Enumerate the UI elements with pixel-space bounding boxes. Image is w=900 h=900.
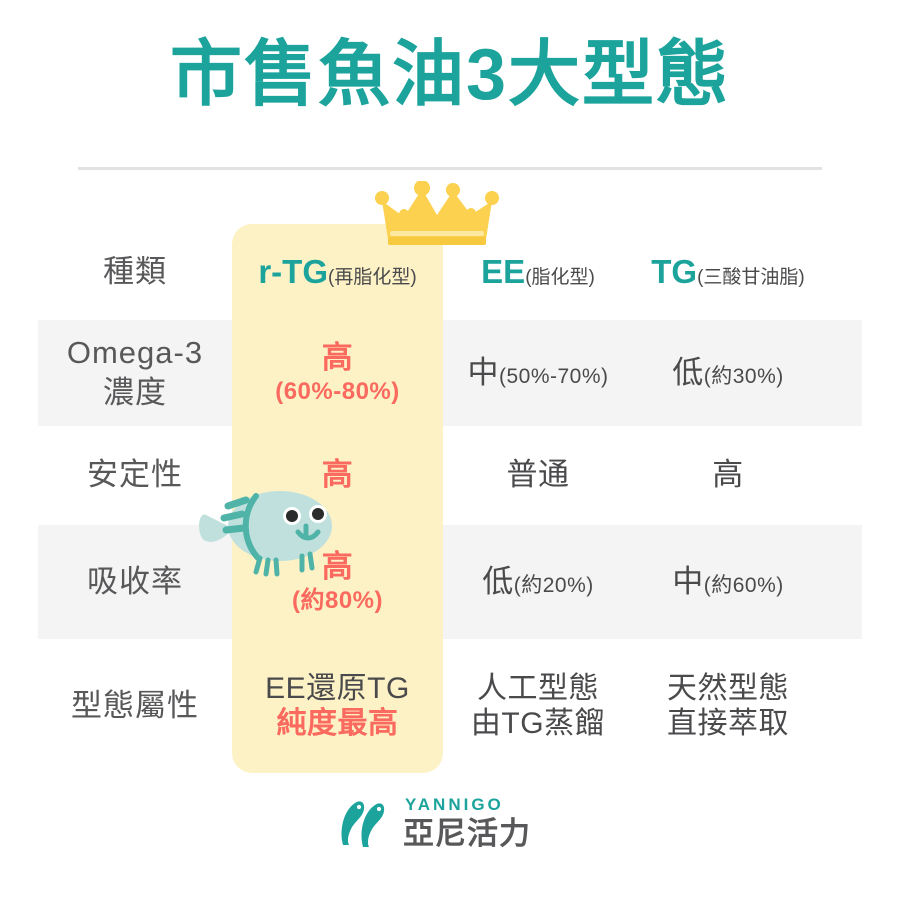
- row-label-form-attribute: 型態屬性: [38, 688, 232, 725]
- svg-text:亞尼活力: 亞尼活力: [403, 816, 531, 850]
- cell-ee-omega3: 中(50%-70%): [443, 355, 633, 392]
- page-title: 市售魚油3大型態: [0, 38, 900, 114]
- table-header-row: 種類 r-TG(再脂化型) EE(脂化型) TG(三酸甘油脂): [38, 224, 862, 320]
- brand-name-cn: 亞尼活力: [403, 816, 563, 850]
- row-label-omega3: Omega-3濃度: [38, 333, 232, 412]
- cell-rtg-form-attribute: EE還原TG純度最高: [232, 671, 443, 742]
- cell-tg-omega3: 低(約30%): [633, 355, 823, 392]
- header-cell-rtg: r-TG(再脂化型): [232, 253, 443, 292]
- cell-tg-stability: 高: [633, 457, 823, 494]
- cell-rtg-stability: 高: [232, 457, 443, 494]
- cell-ee-stability: 普通: [443, 457, 633, 494]
- brand-logo: YANNIGO 亞尼活力: [0, 795, 900, 851]
- header-cell-ee: EE(脂化型): [443, 253, 633, 292]
- row-label-stability: 安定性: [38, 457, 232, 494]
- cell-ee-form-attribute: 人工型態由TG蒸餾: [443, 671, 633, 742]
- cell-ee-absorption: 低(約20%): [443, 564, 633, 601]
- table-row: 安定性 高 普通 高: [38, 426, 862, 525]
- yannigo-penguin-logo-icon: [337, 795, 393, 851]
- comparison-table: 種類 r-TG(再脂化型) EE(脂化型) TG(三酸甘油脂) Omega-3濃…: [38, 224, 862, 773]
- table-row: 吸收率 高(約80%) 低(約20%) 中(約60%): [38, 525, 862, 639]
- infographic-page: 市售魚油3大型態: [0, 0, 900, 900]
- cell-tg-absorption: 中(約60%): [633, 564, 823, 601]
- brand-name-en: YANNIGO: [405, 796, 504, 813]
- table-row: 型態屬性 EE還原TG純度最高 人工型態由TG蒸餾 天然型態直接萃取: [38, 639, 862, 773]
- header-cell-category: 種類: [38, 254, 232, 291]
- cell-rtg-omega3: 高(60%-80%): [232, 340, 443, 407]
- cell-rtg-absorption: 高(約80%): [232, 549, 443, 616]
- brand-text: YANNIGO 亞尼活力: [403, 796, 563, 850]
- title-divider: [78, 167, 822, 170]
- cell-tg-form-attribute: 天然型態直接萃取: [633, 671, 823, 742]
- table-row: Omega-3濃度 高(60%-80%) 中(50%-70%) 低(約30%): [38, 320, 862, 426]
- row-label-absorption: 吸收率: [38, 564, 232, 601]
- header-cell-tg: TG(三酸甘油脂): [633, 253, 823, 292]
